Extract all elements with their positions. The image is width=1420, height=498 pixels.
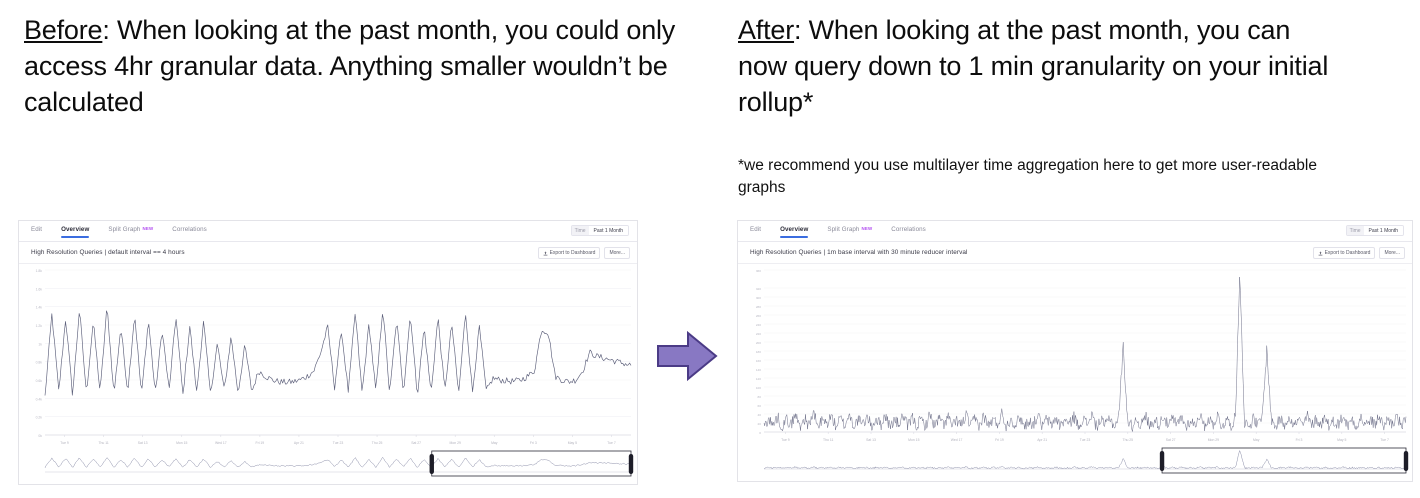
svg-text:0.2k: 0.2k	[36, 416, 43, 420]
graph-title-row-before: High Resolution Queries | default interv…	[19, 242, 637, 264]
svg-text:200: 200	[756, 341, 761, 345]
range-navigator-after[interactable]	[738, 446, 1412, 479]
upload-icon	[1318, 251, 1323, 256]
graph-title: High Resolution Queries | default interv…	[31, 249, 185, 256]
tab-overview-label: Overview	[780, 226, 808, 233]
time-range-label: Time	[572, 226, 589, 235]
svg-text:Apr 21: Apr 21	[1037, 438, 1047, 442]
svg-text:May 5: May 5	[568, 441, 577, 445]
svg-text:Sat 27: Sat 27	[411, 441, 421, 445]
graph-actions: Export to Dashboard More...	[538, 247, 630, 259]
svg-text:Wed 17: Wed 17	[215, 441, 227, 445]
time-range-value: Past 1 Month	[589, 226, 628, 235]
tab-edit-label: Edit	[750, 226, 761, 233]
tabbar-before: Edit Overview Split GraphNEW Correlation…	[19, 221, 637, 242]
plot-area-before: 0k0.2k0.4k0.6k0.8k1k1.2k1.4k1.6k1.8kTue …	[19, 264, 637, 449]
svg-text:140: 140	[756, 368, 761, 372]
svg-text:60: 60	[758, 404, 762, 408]
heading-before-rest: : When looking at the past month, you co…	[24, 15, 675, 117]
svg-text:120: 120	[756, 377, 761, 381]
export-to-dashboard-button[interactable]: Export to Dashboard	[538, 247, 601, 259]
svg-text:Mon 15: Mon 15	[908, 438, 919, 442]
footnote-text: *we recommend you use multilayer time ag…	[738, 155, 1328, 199]
svg-text:1.2k: 1.2k	[36, 324, 43, 328]
graph-actions: Export to Dashboard More...	[1313, 247, 1405, 259]
navigator-area-before	[19, 449, 637, 482]
svg-text:280: 280	[756, 305, 761, 309]
slide-root: Before: When looking at the past month, …	[0, 0, 1420, 498]
tab-split-graph[interactable]: Split GraphNEW	[108, 226, 153, 237]
svg-text:160: 160	[756, 359, 761, 363]
tab-split-graph-label: Split Graph	[827, 226, 859, 233]
svg-text:Sat 13: Sat 13	[866, 438, 876, 442]
svg-text:0k: 0k	[38, 434, 42, 438]
svg-text:Sat 13: Sat 13	[138, 441, 148, 445]
time-range-label: Time	[1347, 226, 1364, 235]
app-panel-after: Edit Overview Split GraphNEW Correlation…	[737, 220, 1413, 482]
svg-text:0: 0	[759, 431, 761, 435]
svg-text:40: 40	[758, 413, 762, 417]
after-chart[interactable]: 0204060801001201401601802002202402602803…	[738, 264, 1412, 446]
range-navigator-before[interactable]	[19, 449, 637, 482]
svg-text:360: 360	[756, 269, 761, 273]
tab-split-graph[interactable]: Split GraphNEW	[827, 226, 872, 237]
svg-text:260: 260	[756, 314, 761, 318]
svg-text:220: 220	[756, 332, 761, 336]
svg-text:1.8k: 1.8k	[36, 269, 43, 273]
svg-text:Apr 21: Apr 21	[294, 441, 304, 445]
tab-correlations[interactable]: Correlations	[172, 226, 207, 237]
export-to-dashboard-button[interactable]: Export to Dashboard	[1313, 247, 1376, 259]
graph-title-row-after: High Resolution Queries | 1m base interv…	[738, 242, 1412, 264]
export-label: Export to Dashboard	[550, 250, 596, 256]
plot-area-after: 0204060801001201401601802002202402602803…	[738, 264, 1412, 446]
svg-text:1.6k: 1.6k	[36, 287, 43, 291]
svg-text:100: 100	[756, 386, 761, 390]
svg-text:Tue 9: Tue 9	[781, 438, 790, 442]
export-label: Export to Dashboard	[1325, 250, 1371, 256]
svg-text:Wed 17: Wed 17	[951, 438, 963, 442]
more-label: More...	[1384, 250, 1400, 256]
more-button[interactable]: More...	[604, 247, 630, 259]
svg-text:1.4k: 1.4k	[36, 306, 43, 310]
svg-text:240: 240	[756, 323, 761, 327]
tab-overview-label: Overview	[61, 226, 89, 233]
svg-text:May 5: May 5	[1337, 438, 1346, 442]
more-button[interactable]: More...	[1379, 247, 1405, 259]
app-panel-before: Edit Overview Split GraphNEW Correlation…	[18, 220, 638, 485]
new-badge: NEW	[861, 226, 872, 231]
tabbar-after: Edit Overview Split GraphNEW Correlation…	[738, 221, 1412, 242]
svg-text:May: May	[491, 441, 498, 445]
svg-text:0.6k: 0.6k	[36, 379, 43, 383]
svg-text:Thu 25: Thu 25	[372, 441, 383, 445]
tab-split-graph-label: Split Graph	[108, 226, 140, 233]
time-range-value: Past 1 Month	[1364, 226, 1403, 235]
heading-after-rest: : When looking at the past month, you ca…	[738, 15, 1328, 117]
tab-overview[interactable]: Overview	[780, 226, 808, 237]
navigator-area-after	[738, 446, 1412, 479]
tab-edit-label: Edit	[31, 226, 42, 233]
tab-correlations[interactable]: Correlations	[891, 226, 926, 237]
heading-after: After: When looking at the past month, y…	[738, 12, 1338, 120]
tab-edit[interactable]: Edit	[750, 226, 761, 237]
svg-text:Tue 23: Tue 23	[333, 441, 344, 445]
tab-correlations-label: Correlations	[891, 226, 926, 233]
svg-text:Mon 29: Mon 29	[450, 441, 461, 445]
svg-text:Thu 25: Thu 25	[1123, 438, 1134, 442]
graph-title: High Resolution Queries | 1m base interv…	[750, 249, 968, 256]
svg-text:Fri 19: Fri 19	[256, 441, 265, 445]
svg-text:Thu 11: Thu 11	[823, 438, 833, 442]
svg-text:300: 300	[756, 296, 761, 300]
tab-overview[interactable]: Overview	[61, 226, 89, 237]
time-range-selector[interactable]: Time Past 1 Month	[1346, 225, 1404, 236]
svg-text:320: 320	[756, 287, 761, 291]
svg-text:Thu 11: Thu 11	[98, 441, 108, 445]
svg-text:Tue 7: Tue 7	[1380, 438, 1389, 442]
before-chart[interactable]: 0k0.2k0.4k0.6k0.8k1k1.2k1.4k1.6k1.8kTue …	[19, 264, 637, 449]
time-range-selector[interactable]: Time Past 1 Month	[571, 225, 629, 236]
svg-text:Tue 23: Tue 23	[1080, 438, 1091, 442]
heading-after-prefix: After	[738, 15, 794, 45]
svg-text:Sat 27: Sat 27	[1166, 438, 1176, 442]
new-badge: NEW	[142, 226, 153, 231]
svg-text:180: 180	[756, 350, 761, 354]
heading-before-prefix: Before	[24, 15, 102, 45]
svg-text:May: May	[1253, 438, 1260, 442]
heading-before: Before: When looking at the past month, …	[24, 12, 714, 120]
svg-text:Fri 19: Fri 19	[995, 438, 1004, 442]
upload-icon	[543, 251, 548, 256]
svg-text:20: 20	[758, 422, 762, 426]
svg-text:Fri 3: Fri 3	[530, 441, 537, 445]
more-label: More...	[609, 250, 625, 256]
tab-correlations-label: Correlations	[172, 226, 207, 233]
right-arrow-icon	[654, 328, 720, 384]
svg-text:Tue 7: Tue 7	[607, 441, 616, 445]
svg-text:Mon 15: Mon 15	[176, 441, 187, 445]
svg-text:Tue 9: Tue 9	[60, 441, 69, 445]
svg-text:Fri 3: Fri 3	[1296, 438, 1303, 442]
svg-text:0.4k: 0.4k	[36, 397, 43, 401]
svg-text:0.8k: 0.8k	[36, 361, 43, 365]
svg-text:Mon 29: Mon 29	[1208, 438, 1219, 442]
svg-text:80: 80	[758, 395, 762, 399]
tab-edit[interactable]: Edit	[31, 226, 42, 237]
svg-text:1k: 1k	[38, 342, 42, 346]
